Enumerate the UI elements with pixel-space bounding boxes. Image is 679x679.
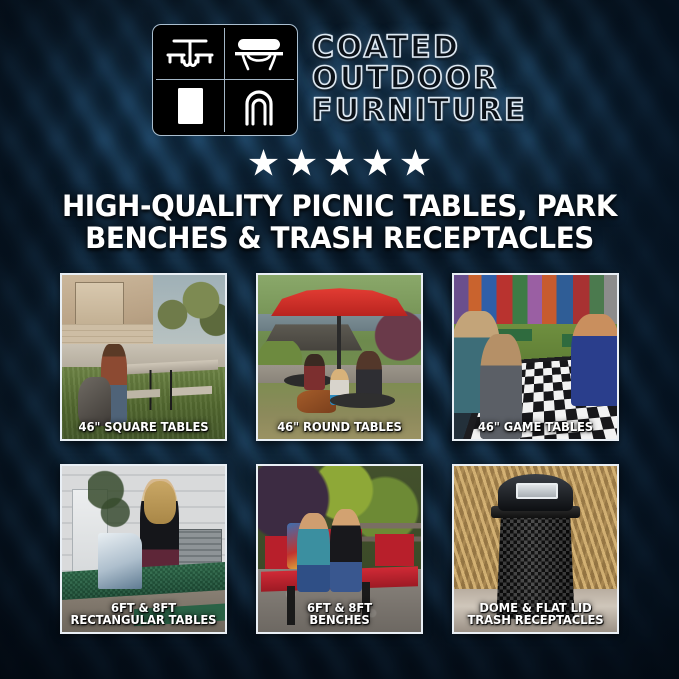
category-tile-rectangular-tables[interactable]: 6FT & 8FT RECTANGULAR TABLES — [60, 464, 227, 634]
category-label-line-1: 46" SQUARE TABLES — [69, 421, 218, 434]
category-label-line-1: 6FT & 8FT — [265, 602, 414, 615]
category-label-line-1: 6FT & 8FT — [69, 602, 218, 615]
category-label-trash-receptacles: DOME & FLAT LID TRASH RECEPTACLES — [458, 602, 613, 628]
category-tile-benches[interactable]: 6FT & 8FT BENCHES — [256, 464, 423, 634]
product-category-grid: 46" SQUARE TABLES 46" ROUND TABLES — [50, 273, 630, 634]
picnic-table-icon — [156, 28, 225, 80]
category-label-line-1: 46" ROUND TABLES — [265, 421, 414, 434]
bike-rack-icon — [225, 80, 294, 132]
brand-logo: COATED OUTDOOR FURNITURE — [0, 0, 679, 136]
bench-icon — [225, 28, 294, 80]
headline-line-1: HIGH-QUALITY PICNIC TABLES, PARK — [45, 191, 634, 223]
category-label-rectangular-tables: 6FT & 8FT RECTANGULAR TABLES — [66, 602, 221, 628]
category-label-line-1: DOME & FLAT LID — [461, 602, 610, 615]
category-photo-round-tables — [258, 275, 421, 439]
category-label-line-2: TRASH RECEPTACLES — [461, 614, 610, 627]
category-photo-square-tables — [62, 275, 225, 439]
brand-word-coated: COATED — [312, 33, 460, 62]
category-label-line-2: RECTANGULAR TABLES — [69, 614, 218, 627]
brand-word-furniture: FURNITURE — [312, 96, 527, 125]
category-tile-square-tables[interactable]: 46" SQUARE TABLES — [60, 273, 227, 441]
category-label-square-tables: 46" SQUARE TABLES — [66, 421, 221, 434]
brand-wordmark: COATED OUTDOOR FURNITURE — [312, 33, 527, 127]
category-tile-round-tables[interactable]: 46" ROUND TABLES — [256, 273, 423, 441]
category-photo-game-tables — [454, 275, 617, 439]
category-label-line-2: BENCHES — [265, 614, 414, 627]
star-icon — [287, 149, 316, 177]
category-label-game-tables: 46" GAME TABLES — [458, 421, 613, 434]
star-icon — [363, 149, 392, 177]
headline-line-2: BENCHES & TRASH RECEPTACLES — [45, 223, 634, 255]
category-label-round-tables: 46" ROUND TABLES — [262, 421, 417, 434]
category-label-benches: 6FT & 8FT BENCHES — [262, 602, 417, 628]
category-tile-trash-receptacles[interactable]: DOME & FLAT LID TRASH RECEPTACLES — [452, 464, 619, 634]
star-rating — [0, 149, 679, 177]
logo-icon-grid — [152, 24, 298, 136]
star-icon — [401, 149, 430, 177]
trash-receptacle-icon — [156, 80, 225, 132]
category-tile-game-tables[interactable]: 46" GAME TABLES — [452, 273, 619, 441]
star-icon — [249, 149, 278, 177]
category-label-line-1: 46" GAME TABLES — [461, 421, 610, 434]
headline: HIGH-QUALITY PICNIC TABLES, PARK BENCHES… — [20, 191, 658, 254]
brand-word-outdoor: OUTDOOR — [312, 64, 499, 93]
star-icon — [325, 149, 354, 177]
banner-content: COATED OUTDOOR FURNITURE HIGH-QUALITY PI… — [0, 0, 679, 679]
